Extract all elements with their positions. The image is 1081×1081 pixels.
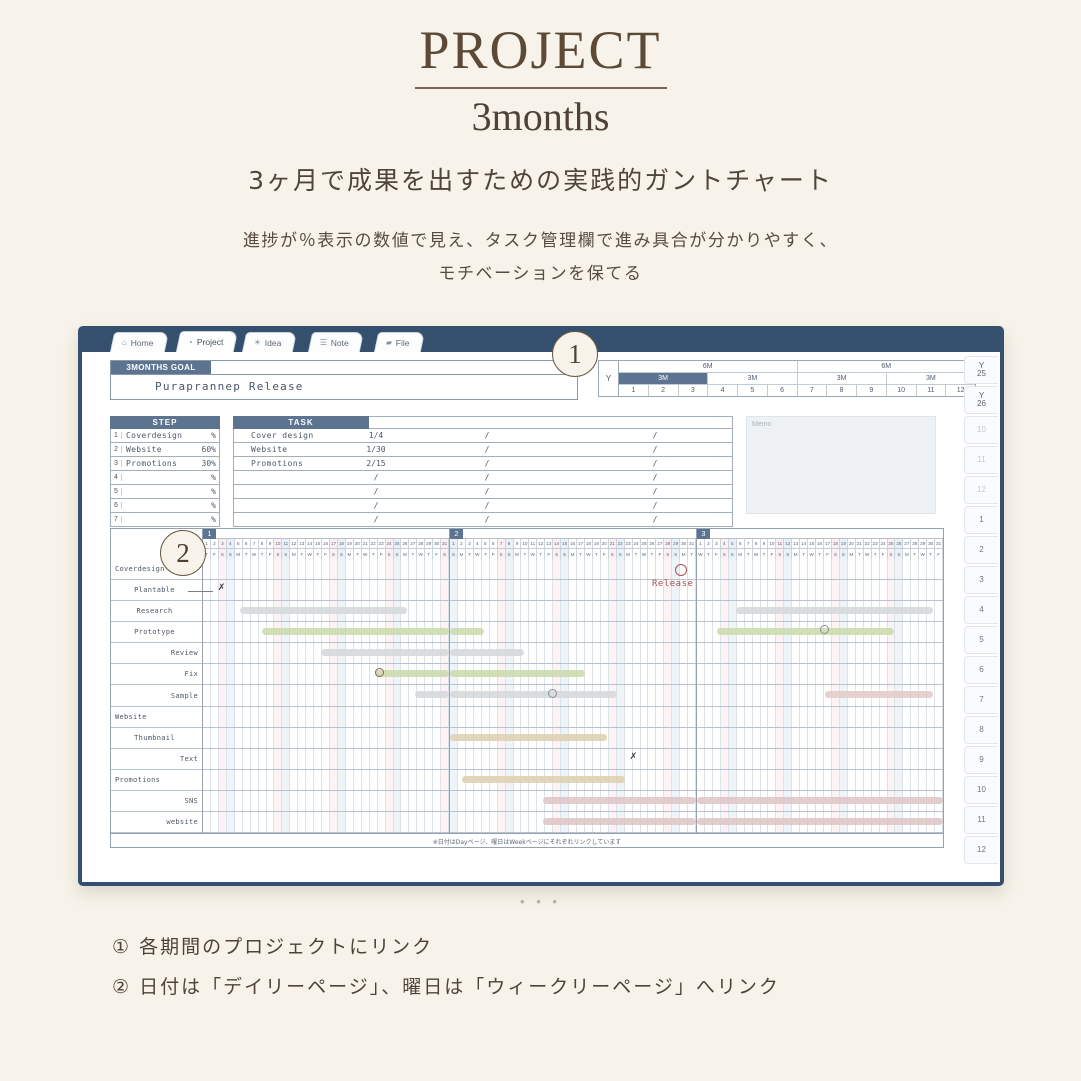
step-percent[interactable]: 30% — [191, 459, 219, 468]
gantt-weekday-cell[interactable]: S — [386, 549, 394, 559]
gantt-bar[interactable] — [717, 628, 894, 635]
gantt-bar[interactable] — [462, 776, 624, 783]
gantt-weekday-cell[interactable]: S — [832, 549, 840, 559]
gantt-weekday-cell[interactable]: S — [609, 549, 617, 559]
gantt-weekday-cell[interactable]: S — [330, 549, 338, 559]
gantt-day-cell[interactable]: 14 — [800, 539, 808, 548]
step-row[interactable]: 5% — [110, 485, 220, 499]
task-date-2[interactable]: / — [410, 501, 564, 510]
step-percent[interactable]: % — [191, 473, 219, 482]
gantt-weekday-cell[interactable]: M — [569, 549, 577, 559]
step-row[interactable]: 7% — [110, 513, 220, 527]
gantt-weekday-cell[interactable]: W — [529, 549, 537, 559]
task-row[interactable]: Promotions2/15// — [233, 457, 733, 471]
gantt-day-cell[interactable]: 27 — [903, 539, 911, 548]
gantt-weekday-cell[interactable]: M — [792, 549, 800, 559]
gantt-milestone-marker[interactable] — [375, 668, 384, 677]
month-cell-2[interactable]: 3 — [679, 385, 709, 396]
gantt-day-cell[interactable]: 17 — [577, 539, 585, 548]
gantt-task-label[interactable]: SNS — [111, 791, 202, 812]
gantt-day-cell[interactable]: 7 — [745, 539, 753, 548]
rail-tab-1[interactable]: 1 — [964, 506, 998, 534]
task-date[interactable]: / — [356, 487, 396, 496]
gantt-day-cell[interactable]: 9 — [761, 539, 769, 548]
gantt-task-label[interactable]: Sample — [111, 685, 202, 706]
task-date-3[interactable]: / — [578, 473, 732, 482]
gantt-day-cell[interactable]: 8 — [506, 539, 514, 548]
gantt-weekday-cell[interactable]: S — [561, 549, 569, 559]
gantt-weekday-cell[interactable]: S — [729, 549, 737, 559]
gantt-day-cell[interactable]: 26 — [895, 539, 903, 548]
gantt-month-number[interactable]: 3 — [697, 529, 710, 539]
quarter-cell-3[interactable]: 3M — [887, 373, 975, 384]
task-row[interactable]: /// — [233, 485, 733, 499]
gantt-bar[interactable] — [321, 649, 449, 656]
gantt-weekday-cell[interactable]: T — [872, 549, 880, 559]
gantt-weekday-cell[interactable]: S — [282, 549, 290, 559]
gantt-weekday-cell[interactable]: T — [425, 549, 433, 559]
gantt-weekday-cell[interactable]: F — [490, 549, 498, 559]
rail-tab-4[interactable]: 4 — [964, 596, 998, 624]
gantt-weekday-cell[interactable]: S — [394, 549, 402, 559]
carousel-dots[interactable]: • • • — [0, 894, 1081, 909]
gantt-day-cell[interactable]: 15 — [314, 539, 322, 548]
gantt-weekday-cell[interactable]: T — [688, 549, 696, 559]
gantt-weekday-cell[interactable]: S — [450, 549, 458, 559]
gantt-day-cell[interactable]: 30 — [433, 539, 441, 548]
quarter-cell-1[interactable]: 3M — [708, 373, 797, 384]
gantt-day-cell[interactable]: 12 — [784, 539, 792, 548]
gantt-day-cell[interactable]: 23 — [625, 539, 633, 548]
gantt-day-cell[interactable]: 3 — [466, 539, 474, 548]
month-cell-10[interactable]: 11 — [917, 385, 947, 396]
gantt-weekday-cell[interactable]: M — [235, 549, 243, 559]
task-date-3[interactable]: / — [578, 487, 732, 496]
gantt-milestone-marker[interactable] — [548, 689, 557, 698]
task-row[interactable]: /// — [233, 513, 733, 527]
gantt-weekday-cell[interactable]: T — [466, 549, 474, 559]
gantt-task-label[interactable]: Fix — [111, 664, 202, 685]
gantt-day-cell[interactable]: 19 — [346, 539, 354, 548]
gantt-day-cell[interactable]: 14 — [306, 539, 314, 548]
gantt-bar[interactable] — [450, 734, 607, 741]
gantt-day-cell[interactable]: 25 — [394, 539, 402, 548]
gantt-day-cell[interactable]: 17 — [824, 539, 832, 548]
step-percent[interactable]: % — [191, 501, 219, 510]
task-date-2[interactable]: / — [410, 459, 564, 468]
gantt-bar[interactable] — [450, 691, 617, 698]
gantt-weekday-cell[interactable]: S — [441, 549, 449, 559]
step-row[interactable]: 6% — [110, 499, 220, 513]
gantt-weekday-cell[interactable]: T — [243, 549, 251, 559]
gantt-bar[interactable] — [697, 818, 943, 825]
gantt-day-cell[interactable]: 22 — [370, 539, 378, 548]
gantt-weekday-cell[interactable]: T — [705, 549, 713, 559]
gantt-day-cell[interactable]: 10 — [768, 539, 776, 548]
gantt-day-cell[interactable]: 10 — [274, 539, 282, 548]
task-date[interactable]: 1/4 — [356, 431, 396, 440]
step-row[interactable]: 2Website60% — [110, 443, 220, 457]
gantt-weekday-cell[interactable]: M — [346, 549, 354, 559]
gantt-weekday-cell[interactable]: T — [927, 549, 935, 559]
rail-tab-5[interactable]: 5 — [964, 626, 998, 654]
gantt-weekday-cell[interactable]: F — [322, 549, 330, 559]
gantt-day-cell[interactable]: 2 — [705, 539, 713, 548]
month-cell-3[interactable]: 4 — [708, 385, 738, 396]
rail-tab-10[interactable]: 10 — [964, 416, 998, 444]
gantt-weekday-cell[interactable]: W — [864, 549, 872, 559]
gantt-weekday-cell[interactable]: S — [617, 549, 625, 559]
gantt-weekday-cell[interactable]: M — [737, 549, 745, 559]
gantt-day-cell[interactable]: 25 — [641, 539, 649, 548]
gantt-day-cell[interactable]: 1 — [450, 539, 458, 548]
gantt-weekday-cell[interactable]: W — [417, 549, 425, 559]
gantt-task-label[interactable]: Text — [111, 749, 202, 770]
gantt-weekday-cell[interactable]: M — [848, 549, 856, 559]
task-date[interactable]: / — [356, 515, 396, 524]
gantt-weekday-cell[interactable]: S — [664, 549, 672, 559]
gantt-weekday-cell[interactable]: T — [314, 549, 322, 559]
task-date-3[interactable]: / — [578, 431, 732, 440]
rail-tab-6[interactable]: 6 — [964, 656, 998, 684]
gantt-weekday-cell[interactable]: M — [290, 549, 298, 559]
gantt-day-cell[interactable]: 16 — [569, 539, 577, 548]
half-cell-1[interactable]: 6M — [798, 361, 976, 372]
gantt-day-cell[interactable]: 13 — [545, 539, 553, 548]
gantt-bar[interactable] — [543, 797, 696, 804]
goal-value-field[interactable]: Puraprannep Release — [110, 375, 578, 400]
month-cell-6[interactable]: 7 — [798, 385, 828, 396]
rail-tab-10[interactable]: 10 — [964, 776, 998, 804]
gantt-day-cell[interactable]: 20 — [354, 539, 362, 548]
gantt-weekday-cell[interactable]: T — [911, 549, 919, 559]
gantt-task-label[interactable]: Review — [111, 643, 202, 664]
tab-note[interactable]: ☰Note — [308, 332, 364, 352]
gantt-day-cell[interactable]: 5 — [235, 539, 243, 548]
task-date-3[interactable]: / — [578, 501, 732, 510]
gantt-task-label[interactable]: website — [111, 812, 202, 833]
gantt-day-cell[interactable]: 7 — [251, 539, 259, 548]
rail-tab-8[interactable]: 8 — [964, 716, 998, 744]
step-percent[interactable]: % — [191, 431, 219, 440]
task-row[interactable]: /// — [233, 499, 733, 513]
task-date-3[interactable]: / — [578, 445, 732, 454]
gantt-day-cell[interactable]: 4 — [474, 539, 482, 548]
rail-tab-12[interactable]: 12 — [964, 836, 998, 864]
gantt-weekday-cell[interactable]: F — [713, 549, 721, 559]
task-name[interactable]: Promotions — [248, 459, 356, 468]
task-name[interactable]: Website — [248, 445, 356, 454]
rail-tab-3[interactable]: 3 — [964, 566, 998, 594]
gantt-month-number[interactable]: 2 — [450, 529, 463, 539]
month-cell-4[interactable]: 5 — [738, 385, 768, 396]
gantt-bar[interactable] — [543, 818, 696, 825]
gantt-weekday-cell[interactable]: M — [514, 549, 522, 559]
gantt-bar[interactable] — [262, 628, 449, 635]
gantt-day-cell[interactable]: 28 — [417, 539, 425, 548]
gantt-day-cell[interactable]: 20 — [848, 539, 856, 548]
gantt-day-cell[interactable]: 7 — [498, 539, 506, 548]
gantt-weekday-cell[interactable]: F — [545, 549, 553, 559]
gantt-day-cell[interactable]: 25 — [888, 539, 896, 548]
gantt-day-cell[interactable]: 31 — [441, 539, 449, 548]
gantt-weekday-cell[interactable]: M — [903, 549, 911, 559]
gantt-day-cell[interactable]: 26 — [401, 539, 409, 548]
gantt-weekday-cell[interactable]: W — [251, 549, 259, 559]
gantt-weekday-cell[interactable]: T — [482, 549, 490, 559]
gantt-weekday-cell[interactable]: S — [498, 549, 506, 559]
gantt-day-cell[interactable]: 11 — [529, 539, 537, 548]
month-cell-5[interactable]: 6 — [768, 385, 798, 396]
gantt-weekday-cell[interactable]: S — [888, 549, 896, 559]
gantt-weekday-cell[interactable]: F — [433, 549, 441, 559]
year-navigator[interactable]: Y 6M6M 3M3M3M3M 123456789101112 — [598, 360, 976, 397]
gantt-day-cell[interactable]: 23 — [872, 539, 880, 548]
rail-tab-2[interactable]: 2 — [964, 536, 998, 564]
gantt-day-cell[interactable]: 31 — [688, 539, 696, 548]
gantt-day-cell[interactable]: 30 — [680, 539, 688, 548]
gantt-day-cell[interactable]: 21 — [856, 539, 864, 548]
gantt-day-cell[interactable]: 21 — [362, 539, 370, 548]
gantt-day-cell[interactable]: 24 — [633, 539, 641, 548]
tab-project[interactable]: ◔Project — [176, 331, 239, 352]
gantt-weekday-cell[interactable]: F — [935, 549, 943, 559]
gantt-weekday-cell[interactable]: S — [672, 549, 680, 559]
gantt-weekday-cell[interactable]: W — [585, 549, 593, 559]
gantt-weekday-cell[interactable]: M — [625, 549, 633, 559]
gantt-day-cell[interactable]: 5 — [482, 539, 490, 548]
step-name[interactable]: Website — [122, 445, 191, 454]
gantt-weekday-cell[interactable]: F — [378, 549, 386, 559]
task-date-3[interactable]: / — [578, 515, 732, 524]
task-date-2[interactable]: / — [410, 473, 564, 482]
gantt-day-cell[interactable]: 4 — [721, 539, 729, 548]
month-cell-8[interactable]: 9 — [857, 385, 887, 396]
task-date-2[interactable]: / — [410, 445, 564, 454]
gantt-weekday-cell[interactable]: F — [211, 549, 219, 559]
task-row[interactable]: Website1/30// — [233, 443, 733, 457]
gantt-day-cell[interactable]: 31 — [935, 539, 943, 548]
gantt-day-cell[interactable]: 29 — [672, 539, 680, 548]
month-cell-1[interactable]: 2 — [649, 385, 679, 396]
tab-file[interactable]: ▰File — [374, 332, 425, 352]
gantt-day-cell[interactable]: 6 — [490, 539, 498, 548]
gantt-weekday-cell[interactable]: S — [506, 549, 514, 559]
task-date[interactable]: / — [356, 501, 396, 510]
gantt-weekday-cell[interactable]: F — [768, 549, 776, 559]
rail-tab-12[interactable]: 12 — [964, 476, 998, 504]
gantt-weekday-cell[interactable]: T — [409, 549, 417, 559]
gantt-day-cell[interactable]: 11 — [282, 539, 290, 548]
gantt-weekday-cell[interactable]: S — [338, 549, 346, 559]
step-row[interactable]: 1Coverdesign% — [110, 429, 220, 443]
gantt-weekday-cell[interactable]: T — [745, 549, 753, 559]
step-name[interactable]: Promotions — [122, 459, 191, 468]
month-cell-7[interactable]: 8 — [827, 385, 857, 396]
gantt-weekday-cell[interactable]: S — [219, 549, 227, 559]
gantt-weekday-cell[interactable]: W — [753, 549, 761, 559]
gantt-day-cell[interactable]: 9 — [267, 539, 275, 548]
gantt-day-cell[interactable]: 17 — [330, 539, 338, 548]
gantt-day-cell[interactable]: 16 — [816, 539, 824, 548]
gantt-bar[interactable] — [375, 670, 449, 677]
gantt-day-cell[interactable]: 3 — [219, 539, 227, 548]
gantt-day-cell[interactable]: 15 — [561, 539, 569, 548]
gantt-day-cell[interactable]: 12 — [290, 539, 298, 548]
gantt-weekday-cell[interactable]: T — [370, 549, 378, 559]
gantt-day-cell[interactable]: 28 — [664, 539, 672, 548]
gantt-bar[interactable] — [450, 649, 524, 656]
gantt-weekday-cell[interactable]: T — [521, 549, 529, 559]
gantt-day-cell[interactable]: 6 — [737, 539, 745, 548]
gantt-day-cell[interactable]: 15 — [808, 539, 816, 548]
gantt-day-cell[interactable]: 13 — [298, 539, 306, 548]
gantt-day-cell[interactable]: 26 — [648, 539, 656, 548]
gantt-task-label[interactable]: Thumbnail — [111, 728, 202, 749]
task-row[interactable]: Cover design1/4// — [233, 429, 733, 443]
gantt-weekday-cell[interactable]: S — [721, 549, 729, 559]
gantt-weekday-cell[interactable]: S — [784, 549, 792, 559]
gantt-weekday-cell[interactable]: T — [761, 549, 769, 559]
gantt-day-cell[interactable]: 18 — [585, 539, 593, 548]
month-cell-9[interactable]: 10 — [887, 385, 917, 396]
gantt-day-cell[interactable]: 20 — [601, 539, 609, 548]
task-name[interactable]: Cover design — [248, 431, 356, 440]
gantt-day-cell[interactable]: 29 — [919, 539, 927, 548]
gantt-bar[interactable] — [450, 670, 585, 677]
gantt-day-cell[interactable]: 3 — [713, 539, 721, 548]
gantt-weekday-cell[interactable]: M — [458, 549, 466, 559]
gantt-bar[interactable] — [450, 628, 484, 635]
gantt-day-cell[interactable]: 11 — [776, 539, 784, 548]
gantt-day-cell[interactable]: 19 — [593, 539, 601, 548]
gantt-weekday-cell[interactable]: W — [808, 549, 816, 559]
gantt-weekday-cell[interactable]: S — [776, 549, 784, 559]
task-row[interactable]: /// — [233, 471, 733, 485]
gantt-day-cell[interactable]: 16 — [322, 539, 330, 548]
gantt-day-cell[interactable]: 24 — [386, 539, 394, 548]
gantt-day-cell[interactable]: 30 — [927, 539, 935, 548]
gantt-day-cell[interactable]: 24 — [880, 539, 888, 548]
step-row[interactable]: 3Promotions30% — [110, 457, 220, 471]
gantt-day-cell[interactable]: 14 — [553, 539, 561, 548]
gantt-day-cell[interactable]: 4 — [227, 539, 235, 548]
gantt-day-cell[interactable]: 22 — [617, 539, 625, 548]
gantt-day-cell[interactable]: 18 — [832, 539, 840, 548]
step-percent[interactable]: % — [191, 487, 219, 496]
gantt-task-label[interactable]: Research — [111, 601, 202, 622]
gantt-day-cell[interactable]: 13 — [792, 539, 800, 548]
gantt-weekday-cell[interactable]: F — [656, 549, 664, 559]
gantt-weekday-cell[interactable]: T — [577, 549, 585, 559]
gantt-weekday-cell[interactable]: T — [593, 549, 601, 559]
gantt-day-cell[interactable]: 6 — [243, 539, 251, 548]
quarter-cell-0[interactable]: 3M — [619, 373, 708, 384]
gantt-weekday-cell[interactable]: F — [824, 549, 832, 559]
memo-panel[interactable]: Memo — [746, 416, 936, 514]
gantt-bar[interactable] — [825, 691, 933, 698]
task-date-2[interactable]: / — [410, 431, 564, 440]
gantt-weekday-cell[interactable]: S — [553, 549, 561, 559]
gantt-weekday-cell[interactable]: T — [537, 549, 545, 559]
gantt-bar[interactable] — [240, 607, 407, 614]
gantt-weekday-cell[interactable]: S — [840, 549, 848, 559]
rail-tab-9[interactable]: 9 — [964, 746, 998, 774]
gantt-day-cell[interactable]: 23 — [378, 539, 386, 548]
gantt-task-label[interactable]: Promotions — [111, 770, 202, 791]
gantt-weekday-cell[interactable]: W — [362, 549, 370, 559]
gantt-weekday-cell[interactable]: F — [880, 549, 888, 559]
gantt-weekday-cell[interactable]: T — [633, 549, 641, 559]
gantt-weekday-cell[interactable]: W — [306, 549, 314, 559]
gantt-weekday-cell[interactable]: W — [919, 549, 927, 559]
gantt-day-cell[interactable]: 27 — [409, 539, 417, 548]
gantt-bar[interactable] — [736, 607, 933, 614]
gantt-month-number[interactable]: 1 — [203, 529, 216, 539]
gantt-weekday-cell[interactable]: T — [648, 549, 656, 559]
gantt-weekday-cell[interactable]: M — [680, 549, 688, 559]
gantt-day-cell[interactable]: 1 — [697, 539, 705, 548]
gantt-weekday-cell[interactable]: T — [354, 549, 362, 559]
gantt-weekday-cell[interactable]: T — [856, 549, 864, 559]
tab-home[interactable]: ⌂Home — [110, 332, 169, 352]
gantt-day-cell[interactable]: 28 — [911, 539, 919, 548]
gantt-day-cell[interactable]: 27 — [656, 539, 664, 548]
quarter-cell-2[interactable]: 3M — [798, 373, 887, 384]
gantt-task-label[interactable]: Prototype — [111, 622, 202, 643]
gantt-weekday-cell[interactable]: T — [259, 549, 267, 559]
rail-tab-7[interactable]: 7 — [964, 686, 998, 714]
step-percent[interactable]: 60% — [191, 445, 219, 454]
month-cell-0[interactable]: 1 — [619, 385, 649, 396]
gantt-weekday-cell[interactable]: T — [298, 549, 306, 559]
step-name[interactable]: Coverdesign — [122, 431, 191, 440]
gantt-day-cell[interactable]: 22 — [864, 539, 872, 548]
gantt-day-cell[interactable]: 21 — [609, 539, 617, 548]
gantt-weekday-cell[interactable]: S — [274, 549, 282, 559]
gantt-weekday-cell[interactable]: F — [267, 549, 275, 559]
gantt-day-cell[interactable]: 19 — [840, 539, 848, 548]
rail-tab-11[interactable]: 11 — [964, 806, 998, 834]
gantt-weekday-cell[interactable]: S — [227, 549, 235, 559]
step-percent[interactable]: % — [191, 515, 219, 524]
task-date-2[interactable]: / — [410, 515, 564, 524]
rail-tab-Y26[interactable]: Y26 — [964, 386, 998, 414]
gantt-day-cell[interactable]: 5 — [729, 539, 737, 548]
gantt-bar[interactable] — [697, 797, 943, 804]
tab-idea[interactable]: ☀Idea — [242, 332, 297, 352]
task-date-2[interactable]: / — [410, 487, 564, 496]
gantt-day-cell[interactable]: 10 — [521, 539, 529, 548]
gantt-day-cell[interactable]: 2 — [211, 539, 219, 548]
gantt-day-cell[interactable]: 29 — [425, 539, 433, 548]
gantt-weekday-cell[interactable]: M — [401, 549, 409, 559]
gantt-day-cell[interactable]: 8 — [753, 539, 761, 548]
gantt-weekday-cell[interactable]: T — [800, 549, 808, 559]
task-date[interactable]: 1/30 — [356, 445, 396, 454]
gantt-weekday-cell[interactable]: W — [641, 549, 649, 559]
step-row[interactable]: 4% — [110, 471, 220, 485]
gantt-task-label[interactable]: Website — [111, 707, 202, 728]
task-date[interactable]: 2/15 — [356, 459, 396, 468]
gantt-day-cell[interactable]: 2 — [458, 539, 466, 548]
gantt-bar[interactable] — [415, 691, 449, 698]
gantt-weekday-cell[interactable]: F — [601, 549, 609, 559]
task-date[interactable]: / — [356, 473, 396, 482]
gantt-weekday-cell[interactable]: T — [816, 549, 824, 559]
rail-tab-11[interactable]: 11 — [964, 446, 998, 474]
gantt-day-cell[interactable]: 9 — [514, 539, 522, 548]
